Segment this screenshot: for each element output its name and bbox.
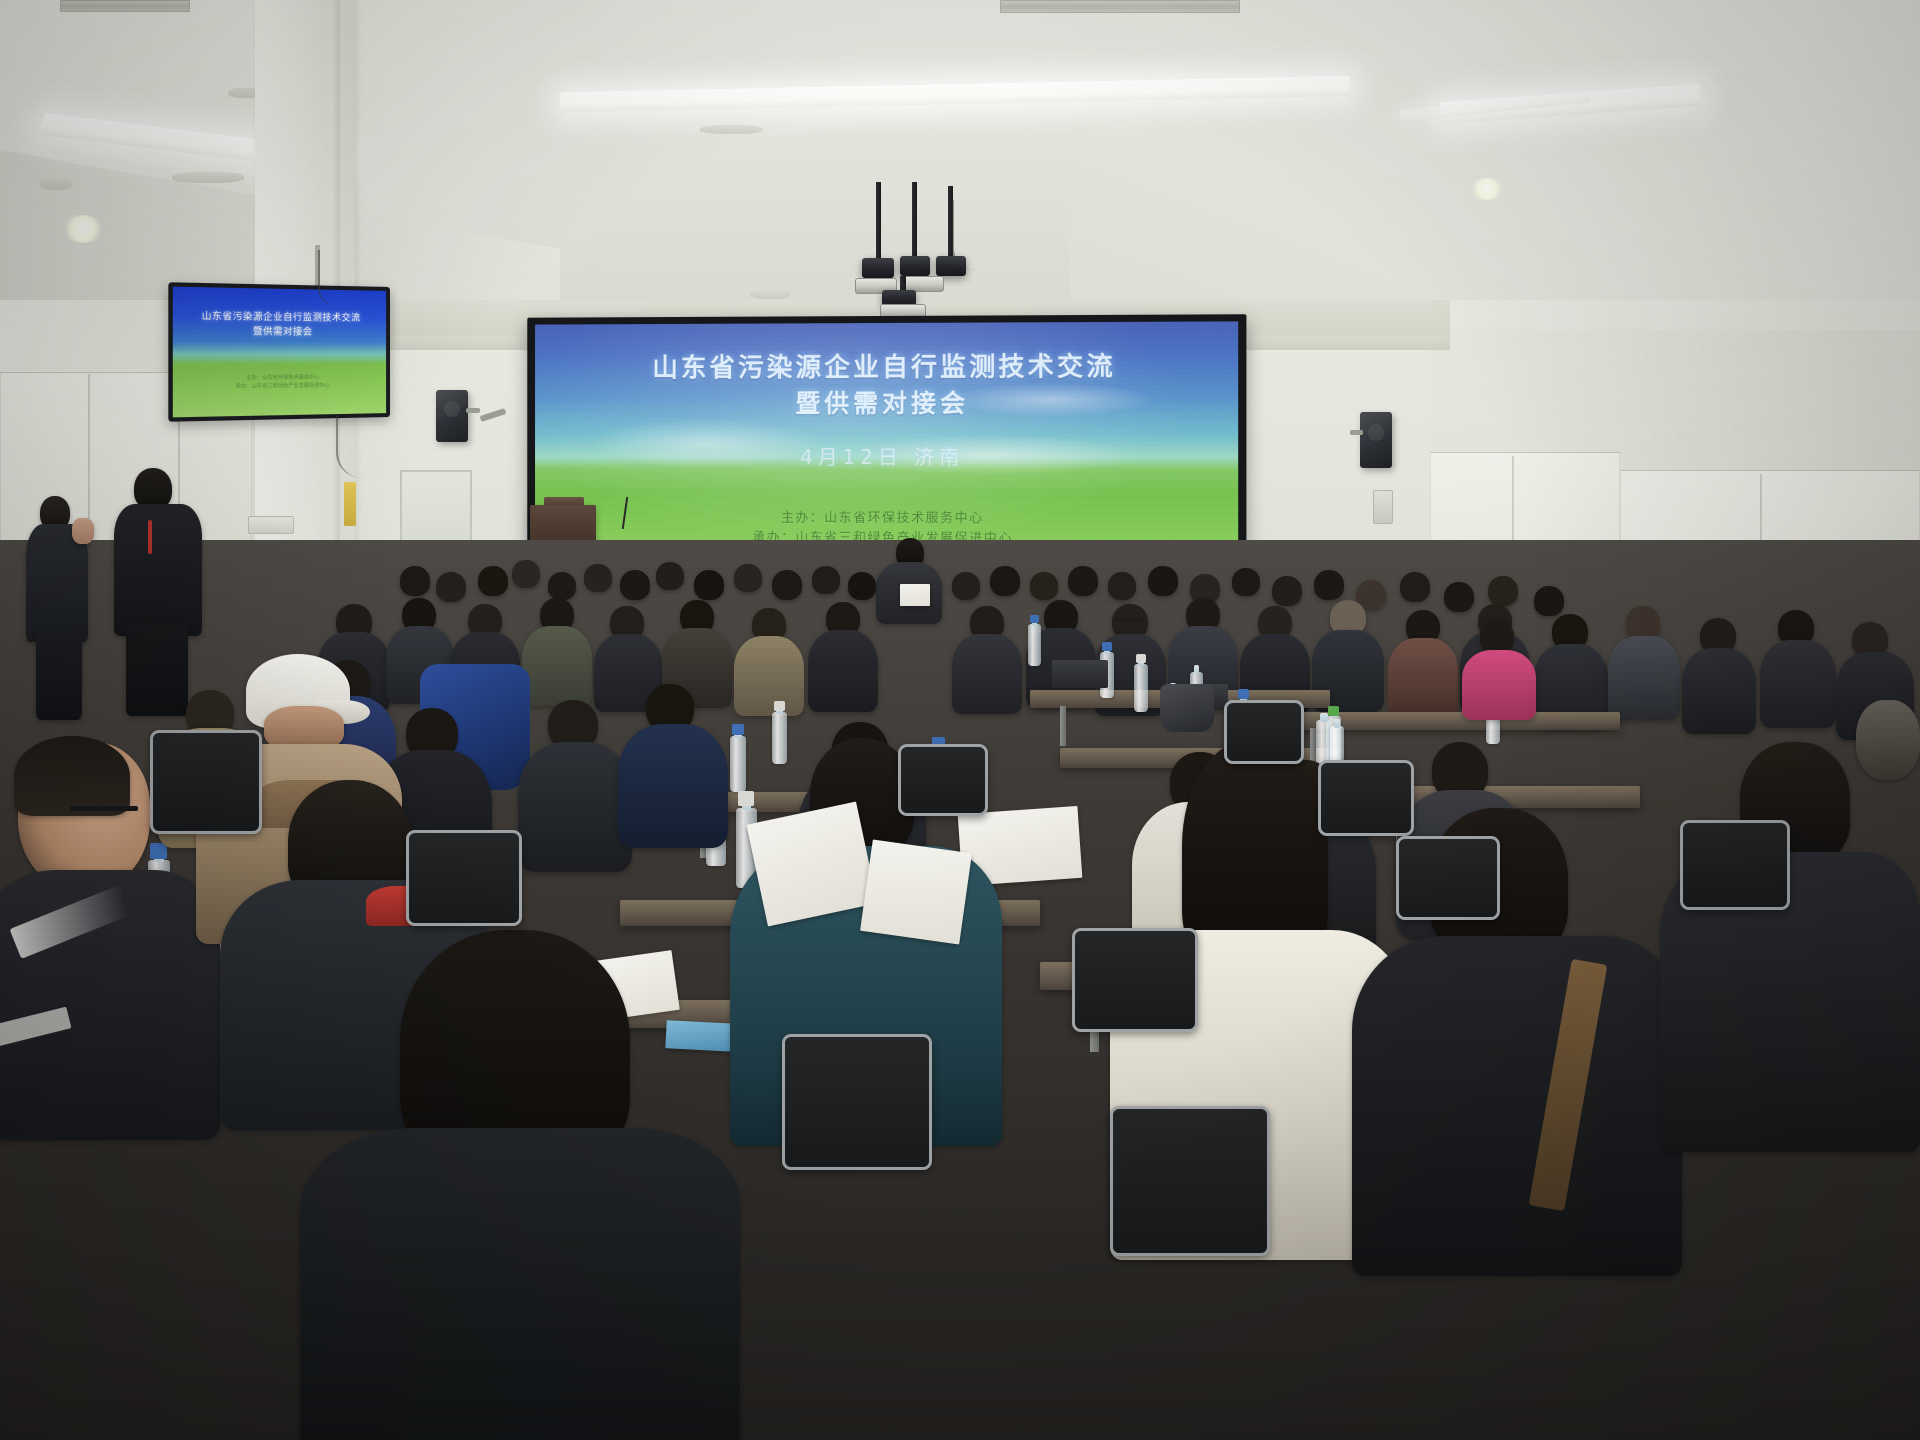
table-leg [1060, 706, 1066, 746]
ceiling-air-vent [1000, 0, 1240, 13]
ceiling-panel-right [1070, 0, 1920, 340]
tv-title-line1: 山东省污染源企业自行监测技术交流 [173, 310, 386, 326]
wall-speaker-left [436, 390, 468, 442]
chair[interactable] [898, 744, 988, 816]
hair [14, 736, 130, 816]
reading-document[interactable] [860, 839, 972, 944]
wall-outlet-plate [248, 516, 294, 534]
slide-title: 山东省污染源企业自行监测技术交流 暨供需对接会 [535, 350, 1238, 422]
backpack[interactable] [1160, 684, 1214, 732]
tv-bezel: 山东省污染源企业自行监测技术交流 暨供需对接会 主办：山东省环保技术服务中心 承… [168, 282, 390, 422]
slide-date: 4月12日 济南 [535, 441, 1238, 470]
document-sheet[interactable] [665, 1020, 736, 1052]
projector-cable [952, 200, 974, 270]
ceiling-slot [172, 172, 244, 183]
wall-tv: 山东省污染源企业自行监测技术交流 暨供需对接会 主办：山东省环保技术服务中心 承… [178, 287, 390, 417]
lanyard [148, 520, 152, 554]
tv-screen: 山东省污染源企业自行监测技术交流 暨供需对接会 主办：山东省环保技术服务中心 承… [173, 287, 386, 418]
speaker-bracket [1350, 430, 1363, 435]
eyeglasses [1116, 618, 1144, 621]
projector-mount-head [862, 258, 894, 278]
presenter-document [900, 584, 930, 606]
chair[interactable] [1224, 700, 1304, 764]
wall-tape-marker [344, 482, 356, 526]
chair[interactable] [1072, 928, 1198, 1032]
slide-title-line2: 暨供需对接会 [535, 386, 1238, 422]
ceiling-slot [700, 125, 762, 134]
projection-screen-frame: 山东省污染源企业自行监测技术交流 暨供需对接会 4月12日 济南 主办：山东省环… [527, 314, 1246, 576]
eyeglasses [70, 806, 138, 811]
ceiling-spot-light [1470, 178, 1504, 200]
tv-credit-organizer: 承办：山东省三和绿色产业发展促进中心 [173, 381, 386, 392]
ceiling-air-vent [60, 0, 190, 12]
chair[interactable] [150, 730, 262, 834]
conference-hall-photo: 山东省污染源企业自行监测技术交流 暨供需对接会 主办：山东省环保技术服务中心 承… [0, 0, 1920, 1440]
tv-cable [318, 250, 336, 306]
wall-speaker-right [1360, 412, 1392, 468]
projector-mount-rod [876, 182, 881, 264]
slide-credit-host: 主办：山东省环保技术服务中心 [535, 508, 1238, 530]
tv-slide-credits: 主办：山东省环保技术服务中心 承办：山东省三和绿色产业发展促进中心 [173, 373, 386, 392]
projected-slide: 山东省污染源企业自行监测技术交流 暨供需对接会 4月12日 济南 主办：山东省环… [535, 321, 1238, 568]
speaker-bracket [466, 408, 480, 413]
projector-mount-head [900, 256, 930, 276]
laptop[interactable] [1052, 660, 1108, 688]
wall-junction-box [1373, 490, 1393, 524]
chair[interactable] [406, 830, 522, 926]
chair[interactable] [1318, 760, 1414, 836]
projection-screen: 山东省污染源企业自行监测技术交流 暨供需对接会 4月12日 济南 主办：山东省环… [522, 316, 1242, 574]
ceiling-slot [750, 290, 790, 299]
chair[interactable] [1110, 1106, 1270, 1256]
ceiling-slot [40, 179, 72, 190]
tv-title-line2: 暨供需对接会 [173, 325, 386, 340]
chair[interactable] [1396, 836, 1500, 920]
slide-title-line1: 山东省污染源企业自行监测技术交流 [535, 350, 1238, 388]
chair[interactable] [1680, 820, 1790, 910]
ceiling-spot-light [62, 215, 104, 243]
projector-mount-rod [912, 182, 917, 260]
chair[interactable] [782, 1034, 932, 1170]
tv-slide-title: 山东省污染源企业自行监测技术交流 暨供需对接会 [173, 310, 386, 340]
